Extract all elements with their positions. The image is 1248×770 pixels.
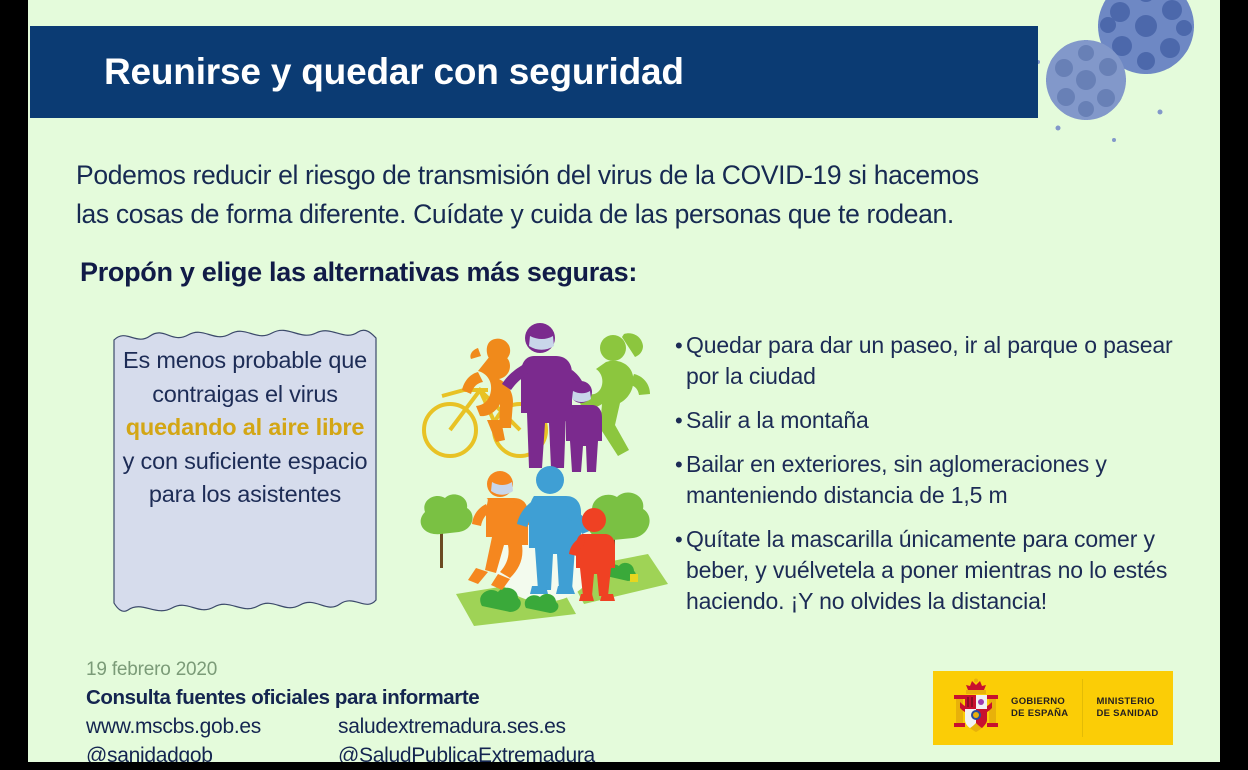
logo-divider xyxy=(1082,679,1083,737)
intro-line-2: las cosas de forma diferente. Cuídate y … xyxy=(76,195,1176,234)
people-walking-illustration xyxy=(420,312,660,472)
spain-coat-of-arms-icon xyxy=(952,678,1000,739)
title-banner: Reunirse y quedar con seguridad xyxy=(30,26,1038,118)
callout-text: Es menos probable que contraigas el viru… xyxy=(118,344,372,512)
bullet-marker-icon: • xyxy=(653,330,686,361)
slide-frame: Reunirse y quedar con seguridad Podemos … xyxy=(0,0,1248,770)
bullet-marker-icon: • xyxy=(653,449,686,480)
intro-paragraph: Podemos reducir el riesgo de transmisión… xyxy=(76,156,1176,234)
ministry-label: MINISTERIO DE SANIDAD xyxy=(1096,696,1158,720)
list-item-label: Quítate la mascarilla únicamente para co… xyxy=(686,524,1193,617)
list-item: • Quítate la mascarilla únicamente para … xyxy=(653,524,1193,617)
official-website-link[interactable]: www.mscbs.gob.es xyxy=(86,712,261,741)
bullet-marker-icon: • xyxy=(653,524,686,555)
government-line-2: DE ESPAÑA xyxy=(1011,708,1068,720)
callout-highlight: quedando al aire libre xyxy=(126,414,365,440)
list-item-label: Bailar en exteriores, sin aglomeraciones… xyxy=(686,449,1193,511)
park-scene-illustration xyxy=(416,458,668,626)
ministry-line-2: DE SANIDAD xyxy=(1096,708,1158,720)
coronavirus-icon xyxy=(1020,0,1220,152)
publication-date: 19 febrero 2020 xyxy=(86,659,217,681)
section-subheading: Propón y elige las alternativas más segu… xyxy=(80,257,637,288)
callout-part-2: y con suficiente espacio para los asiste… xyxy=(123,448,368,508)
intro-line-1: Podemos reducir el riesgo de transmisión… xyxy=(76,156,1176,195)
footer-left-column: www.mscbs.gob.es @sanidadgob xyxy=(86,712,261,762)
ministry-line-1: MINISTERIO xyxy=(1096,696,1158,708)
list-item-label: Quedar para dar un paseo, ir al parque o… xyxy=(686,330,1193,392)
government-label: GOBIERNO DE ESPAÑA xyxy=(1011,696,1068,720)
official-social-handle[interactable]: @sanidadgob xyxy=(86,741,261,762)
callout-box: Es menos probable que contraigas el viru… xyxy=(110,322,380,618)
bullet-marker-icon: • xyxy=(653,405,686,436)
alternatives-bullet-list: • Quedar para dar un paseo, ir al parque… xyxy=(653,330,1193,630)
list-item: • Salir a la montaña xyxy=(653,405,1193,436)
footer-right-column: saludextremadura.ses.es @SaludPublicaExt… xyxy=(338,712,595,762)
callout-part-1: Es menos probable que contraigas el viru… xyxy=(123,347,367,407)
footer-heading: Consulta fuentes oficiales para informar… xyxy=(86,686,479,710)
regional-social-handle[interactable]: @SaludPublicaExtremadura xyxy=(338,741,595,762)
list-item-label: Salir a la montaña xyxy=(686,405,1193,436)
government-line-1: GOBIERNO xyxy=(1011,696,1068,708)
government-logo: GOBIERNO DE ESPAÑA MINISTERIO DE SANIDAD xyxy=(933,671,1173,745)
list-item: • Bailar en exteriores, sin aglomeracion… xyxy=(653,449,1193,511)
page-title: Reunirse y quedar con seguridad xyxy=(104,51,684,93)
slide-canvas: Reunirse y quedar con seguridad Podemos … xyxy=(28,0,1220,762)
list-item: • Quedar para dar un paseo, ir al parque… xyxy=(653,330,1193,392)
regional-website-link[interactable]: saludextremadura.ses.es xyxy=(338,712,595,741)
